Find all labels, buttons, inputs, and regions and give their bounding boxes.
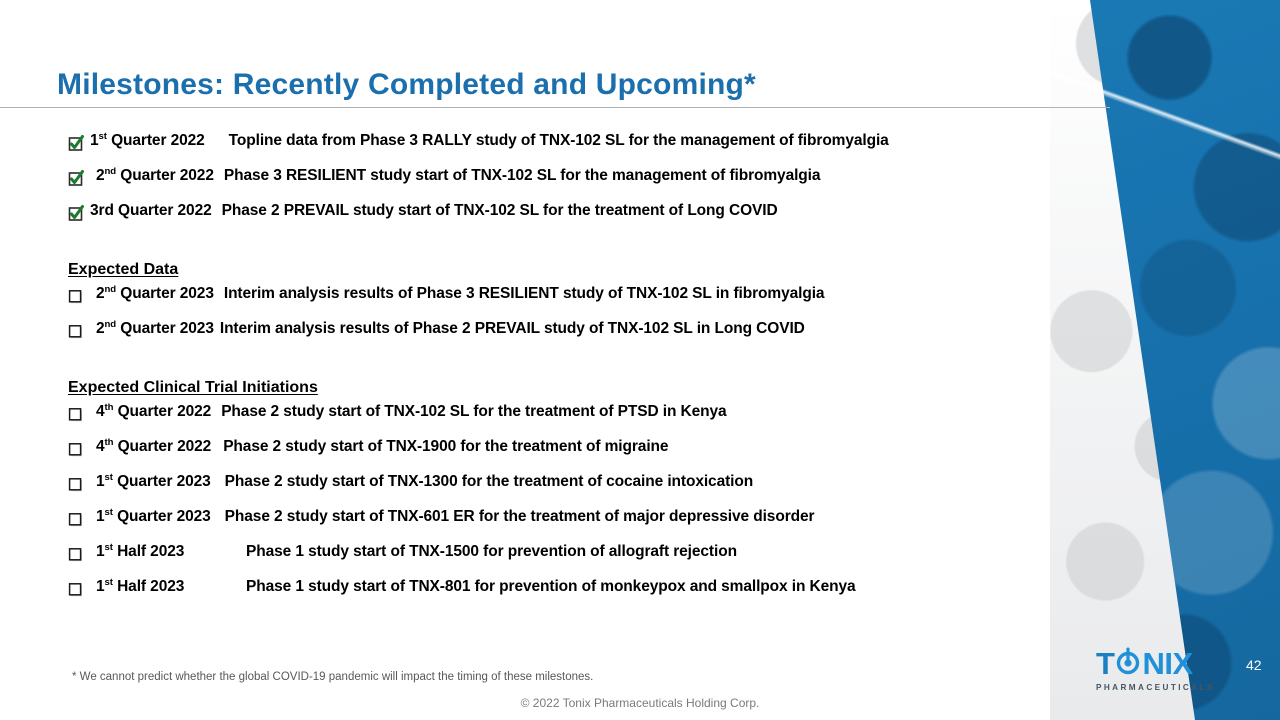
milestone-period: 2nd Quarter 2023 <box>96 285 214 303</box>
empty-checkbox-icon <box>68 322 90 342</box>
footnote: * We cannot predict whether the global C… <box>72 671 593 683</box>
milestone-period: 2nd Quarter 2022 <box>96 167 214 185</box>
tonix-logo: T NIX PHARMACEUTICALS <box>1096 647 1218 692</box>
milestones-content: 1st Quarter 2022 Topline data from Phase… <box>68 132 1088 613</box>
milestone-row-completed-2: 2nd Quarter 2022 Phase 3 RESILIENT study… <box>68 167 1088 202</box>
milestone-row-expected-data-2: 2nd Quarter 2023 Interim analysis result… <box>68 320 1088 355</box>
section-heading-expected-data: Expected Data <box>68 261 1088 279</box>
section-gap <box>68 237 1088 261</box>
milestone-detail: Phase 1 study start of TNX-801 for preve… <box>246 578 856 596</box>
empty-checkbox-icon <box>68 510 90 530</box>
milestone-detail: Phase 2 study start of TNX-1300 for the … <box>225 473 753 491</box>
empty-checkbox-icon <box>68 440 90 460</box>
milestone-period: 4th Quarter 2022 <box>96 403 211 421</box>
empty-checkbox-icon <box>68 580 90 600</box>
slide: Milestones: Recently Completed and Upcom… <box>0 0 1280 720</box>
milestone-detail: Phase 2 study start of TNX-1900 for the … <box>223 438 668 456</box>
milestone-detail: Topline data from Phase 3 RALLY study of… <box>229 132 889 150</box>
checked-checkbox-icon <box>68 204 90 224</box>
milestone-period: 3rd Quarter 2022 <box>90 202 212 220</box>
logo-letters-nix: NIX <box>1142 648 1192 679</box>
milestone-row-initiation-1: 4th Quarter 2022 Phase 2 study start of … <box>68 403 1088 438</box>
milestone-detail: Phase 2 study start of TNX-102 SL for th… <box>221 403 726 421</box>
page-title: Milestones: Recently Completed and Upcom… <box>57 68 756 102</box>
milestone-detail: Interim analysis results of Phase 2 PREV… <box>220 320 805 338</box>
milestone-row-completed-3: 3rd Quarter 2022 Phase 2 PREVAIL study s… <box>68 202 1088 237</box>
milestone-period: 2nd Quarter 2023 <box>96 320 214 338</box>
logo-letter-t: T <box>1096 648 1114 679</box>
milestone-row-initiation-6: 1st Half 2023 Phase 1 study start of TNX… <box>68 578 1088 613</box>
section-heading-expected-initiations: Expected Clinical Trial Initiations <box>68 379 1088 397</box>
milestone-row-initiation-4: 1st Quarter 2023 Phase 2 study start of … <box>68 508 1088 543</box>
milestone-period: 1st Quarter 2023 <box>96 508 211 526</box>
logo-wordmark: T NIX <box>1096 647 1218 680</box>
milestone-period: 1st Half 2023 <box>96 578 216 596</box>
milestone-detail: Phase 3 RESILIENT study start of TNX-102… <box>224 167 821 185</box>
milestone-row-initiation-3: 1st Quarter 2023 Phase 2 study start of … <box>68 473 1088 508</box>
milestone-period: 1st Quarter 2023 <box>96 473 211 491</box>
title-divider <box>0 107 1110 108</box>
milestone-detail: Phase 2 study start of TNX-601 ER for th… <box>225 508 815 526</box>
checked-checkbox-icon <box>68 134 90 154</box>
milestone-detail: Phase 1 study start of TNX-1500 for prev… <box>246 543 737 561</box>
empty-checkbox-icon <box>68 287 90 307</box>
checked-checkbox-icon <box>68 169 90 189</box>
milestone-period: 1st Half 2023 <box>96 543 216 561</box>
milestone-row-expected-data-1: 2nd Quarter 2023 Interim analysis result… <box>68 285 1088 320</box>
empty-checkbox-icon <box>68 475 90 495</box>
milestone-detail: Interim analysis results of Phase 3 RESI… <box>224 285 825 303</box>
copyright-notice: © 2022 Tonix Pharmaceuticals Holding Cor… <box>0 696 1280 710</box>
empty-checkbox-icon <box>68 405 90 425</box>
milestone-period: 1st Quarter 2022 <box>90 132 205 150</box>
empty-checkbox-icon <box>68 545 90 565</box>
milestone-row-initiation-2: 4th Quarter 2022 Phase 2 study start of … <box>68 438 1088 473</box>
milestone-row-initiation-5: 1st Half 2023 Phase 1 study start of TNX… <box>68 543 1088 578</box>
logo-subtitle: PHARMACEUTICALS <box>1096 683 1218 692</box>
page-number: 42 <box>1246 657 1262 673</box>
milestone-period: 4th Quarter 2022 <box>96 438 211 456</box>
milestone-row-completed-1: 1st Quarter 2022 Topline data from Phase… <box>68 132 1088 167</box>
power-ring-icon <box>1115 647 1141 680</box>
milestone-detail: Phase 2 PREVAIL study start of TNX-102 S… <box>222 202 778 220</box>
section-gap <box>68 355 1088 379</box>
